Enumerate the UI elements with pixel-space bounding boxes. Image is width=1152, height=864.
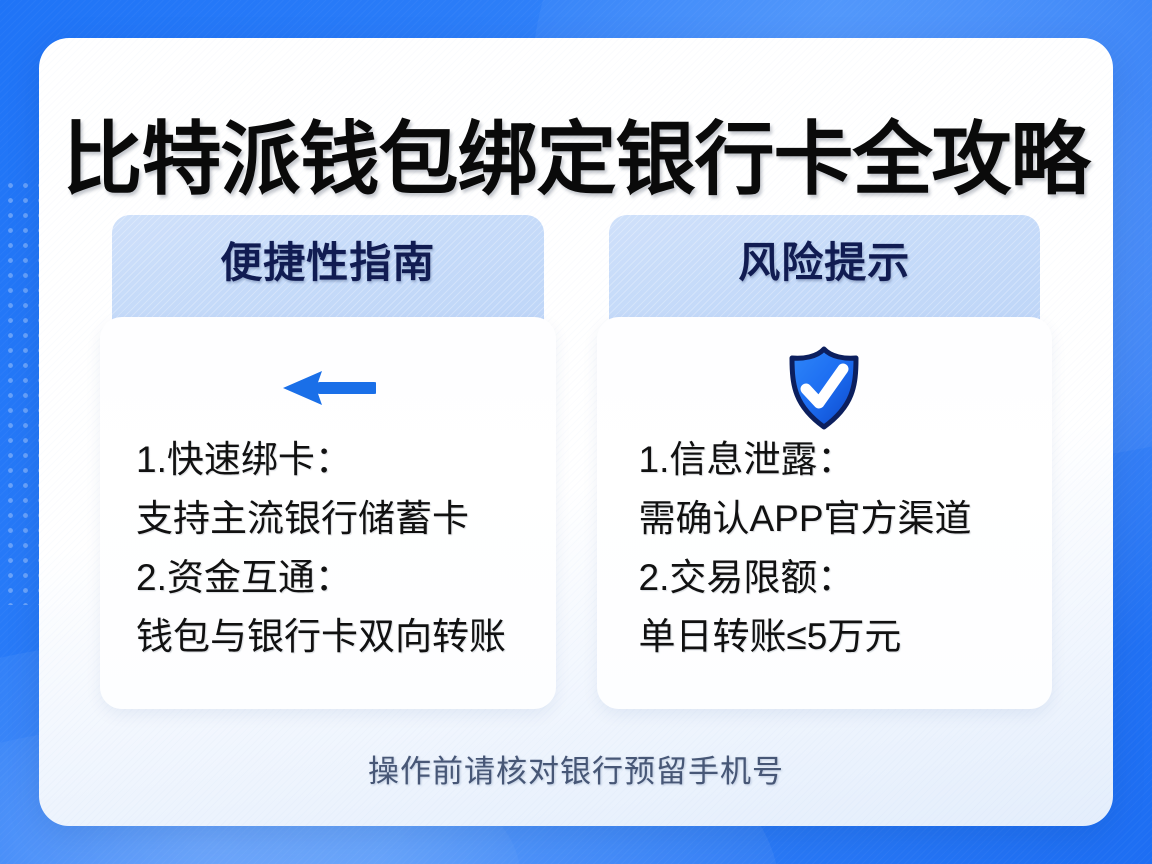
panel-convenience-header-label: 便捷性指南 xyxy=(220,237,435,289)
page-title: 比特派钱包绑定银行卡全攻略 xyxy=(39,112,1113,208)
item-title: 2.资金互通： xyxy=(136,549,530,607)
panels-row: 便捷性指南 1.快速绑卡： 支持主流 xyxy=(100,215,1052,709)
item-title: 1.信息泄露： xyxy=(639,431,1027,489)
item-desc: 单日转账≤5万元 xyxy=(639,607,1027,667)
list-item: 2.交易限额： 单日转账≤5万元 xyxy=(639,549,1027,667)
panel-risk-header-label: 风险提示 xyxy=(738,237,910,289)
panel-risk: 风险提示 xyxy=(597,215,1053,709)
poster-canvas: 比特派钱包绑定银行卡全攻略 便捷性指南 xyxy=(0,0,1152,864)
panel-convenience-list: 1.快速绑卡： 支持主流银行储蓄卡 2.资金互通： 钱包与银行卡双向转账 xyxy=(126,431,530,667)
item-title: 1.快速绑卡： xyxy=(136,431,530,489)
left-arrow-icon xyxy=(280,370,376,406)
panel-risk-body: 1.信息泄露： 需确认APP官方渠道 2.交易限额： 单日转账≤5万元 xyxy=(597,317,1053,709)
panel-convenience: 便捷性指南 1.快速绑卡： 支持主流 xyxy=(100,215,556,709)
shield-check-icon xyxy=(787,346,861,430)
panel-risk-list: 1.信息泄露： 需确认APP官方渠道 2.交易限额： 单日转账≤5万元 xyxy=(623,431,1027,667)
panel-risk-header: 风险提示 xyxy=(609,215,1041,321)
footer-note: 操作前请核对银行预留手机号 xyxy=(39,750,1113,794)
item-title: 2.交易限额： xyxy=(639,549,1027,607)
background-dot-grid xyxy=(0,175,42,605)
panel-risk-icon-area xyxy=(623,345,1027,431)
list-item: 2.资金互通： 钱包与银行卡双向转账 xyxy=(136,549,530,667)
item-desc: 支持主流银行储蓄卡 xyxy=(136,489,530,549)
panel-convenience-header: 便捷性指南 xyxy=(112,215,544,321)
item-desc: 需确认APP官方渠道 xyxy=(639,489,1027,549)
panel-convenience-icon-area xyxy=(126,345,530,431)
item-desc: 钱包与银行卡双向转账 xyxy=(136,607,530,667)
list-item: 1.快速绑卡： 支持主流银行储蓄卡 xyxy=(136,431,530,549)
panel-convenience-body: 1.快速绑卡： 支持主流银行储蓄卡 2.资金互通： 钱包与银行卡双向转账 xyxy=(100,317,556,709)
main-content-card: 比特派钱包绑定银行卡全攻略 便捷性指南 xyxy=(39,38,1113,826)
list-item: 1.信息泄露： 需确认APP官方渠道 xyxy=(639,431,1027,549)
